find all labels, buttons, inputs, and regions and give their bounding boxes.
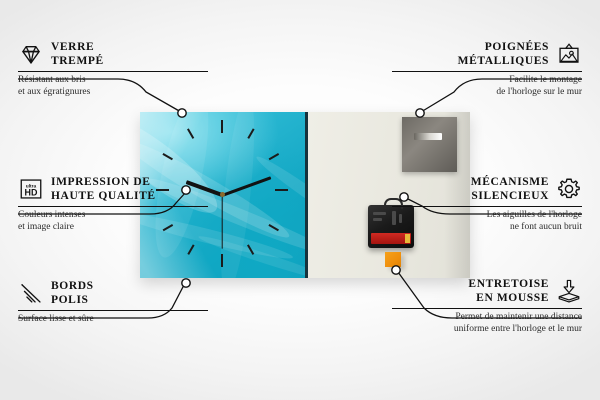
metal-bracket (402, 117, 457, 172)
callout-rule (392, 206, 582, 207)
svg-text:HD: HD (25, 188, 38, 198)
clock-tick (275, 189, 288, 191)
callout-title: VERRE TREMPÉ (51, 40, 104, 68)
callout-title: IMPRESSION DE HAUTE QUALITÉ (51, 175, 156, 203)
callout-subtitle: Résistant aux bris et aux égratignures (18, 75, 208, 98)
callout-title: MÉCANISME SILENCIEUX (471, 175, 549, 203)
mechanism-battery (371, 233, 411, 244)
ultra-hd-icon: ultra HD (18, 176, 44, 202)
clock-tick (221, 120, 223, 133)
foam-spacer-icon (556, 278, 582, 304)
clock-tick (187, 244, 194, 254)
clock-tick (269, 153, 279, 160)
callout-bords-polis: BORDS POLIS Surface lisse et sûre (18, 279, 208, 326)
callout-subtitle: Surface lisse et sûre (18, 314, 208, 326)
callout-rule (18, 71, 208, 72)
callout-title: ENTRETOISE EN MOUSSE (468, 277, 549, 305)
callout-impression-haute-qualite: ultra HD IMPRESSION DE HAUTE QUALITÉ Cou… (18, 175, 208, 233)
diamond-icon (18, 41, 44, 67)
clock-second-hand (221, 195, 222, 249)
callout-subtitle: Facilite le montage de l'horloge sur le … (392, 75, 582, 98)
foam-spacer (385, 252, 401, 267)
polished-edge-icon (18, 280, 44, 306)
callout-rule (392, 71, 582, 72)
callout-title: POIGNÉES MÉTALLIQUES (458, 40, 549, 68)
clock-center-cap (220, 192, 225, 197)
callout-rule (18, 206, 208, 207)
callout-mecanisme-silencieux: MÉCANISME SILENCIEUX Les aiguilles de l'… (392, 175, 582, 233)
gear-icon (556, 176, 582, 202)
callout-rule (18, 310, 208, 311)
callout-subtitle: Couleurs intenses et image claire (18, 210, 208, 233)
clock-tick (221, 254, 223, 267)
callout-subtitle: Permet de maintenir une distance uniform… (392, 312, 582, 335)
callout-poignees-metalliques: POIGNÉES MÉTALLIQUES Facilite le montage… (392, 40, 582, 98)
callout-rule (392, 308, 582, 309)
callout-title: BORDS POLIS (51, 279, 94, 307)
picture-hanger-icon (556, 41, 582, 67)
callout-subtitle: Les aiguilles de l'horloge ne font aucun… (392, 210, 582, 233)
callout-verre-trempe: VERRE TREMPÉ Résistant aux bris et aux é… (18, 40, 208, 98)
callout-entretoise-en-mousse: ENTRETOISE EN MOUSSE Permet de maintenir… (392, 277, 582, 335)
infographic-canvas: VERRE TREMPÉ Résistant aux bris et aux é… (0, 0, 600, 400)
